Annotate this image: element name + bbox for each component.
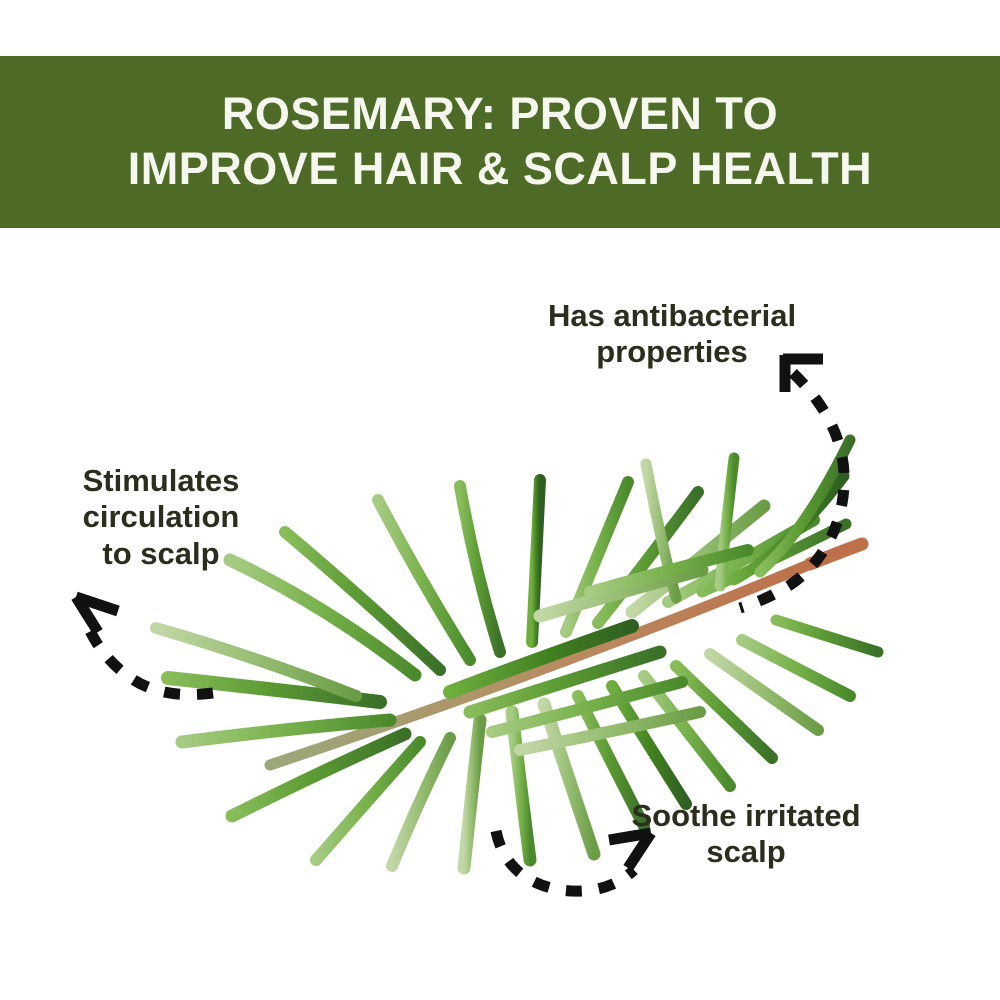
callout-circulation: Stimulates circulation to scalp — [83, 463, 240, 572]
callout-antibacterial-line-2: properties — [548, 334, 796, 370]
callout-soothe-line-2: scalp — [631, 834, 860, 870]
callout-antibacterial-line-1: Has antibacterial — [548, 298, 796, 334]
callout-soothe-line-1: Soothe irritated — [631, 798, 860, 834]
callout-antibacterial: Has antibacterial properties — [548, 298, 796, 371]
callout-soothe: Soothe irritated scalp — [631, 798, 860, 871]
callout-circulation-line-1: Stimulates — [83, 463, 240, 499]
callout-circulation-line-2: circulation — [83, 499, 240, 535]
callout-circulation-line-3: to scalp — [83, 536, 240, 572]
header-title-line-1: ROSEMARY: PROVEN TO — [222, 87, 778, 142]
header-banner: ROSEMARY: PROVEN TO IMPROVE HAIR & SCALP… — [0, 56, 1000, 228]
infographic-page: ROSEMARY: PROVEN TO IMPROVE HAIR & SCALP… — [0, 0, 1000, 1000]
header-title-line-2: IMPROVE HAIR & SCALP HEALTH — [128, 142, 872, 197]
